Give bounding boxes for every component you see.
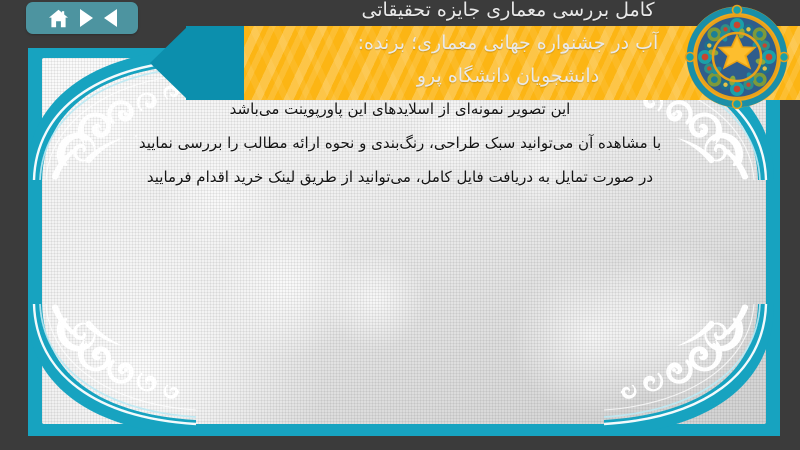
back-button[interactable] (104, 9, 117, 27)
banner-arrow-tip (150, 26, 188, 100)
navigation-toolbar[interactable] (26, 2, 138, 34)
body-line-1: این تصویر نمونه‌ای از اسلایدهای این پاور… (40, 92, 760, 126)
body-line-3: در صورت تمایل به دریافت فایل کامل، می‌تو… (40, 160, 760, 194)
slide-body-text: این تصویر نمونه‌ای از اسلایدهای این پاور… (40, 92, 760, 194)
viewer-left-chrome (0, 0, 28, 450)
viewer-bottom-chrome (0, 436, 800, 450)
home-icon (48, 9, 69, 28)
forward-button[interactable] (80, 9, 93, 27)
next-arrow-icon (80, 9, 93, 27)
persian-mandala-medallion-icon (684, 4, 790, 110)
slide-viewer-stage: این تصویر نمونه‌ای از اسلایدهای این پاور… (0, 0, 800, 450)
previous-arrow-icon (104, 9, 117, 27)
body-line-2: با مشاهده آن می‌توانید سبک طراحی، رنگ‌بن… (40, 126, 760, 160)
home-button[interactable] (48, 9, 69, 28)
